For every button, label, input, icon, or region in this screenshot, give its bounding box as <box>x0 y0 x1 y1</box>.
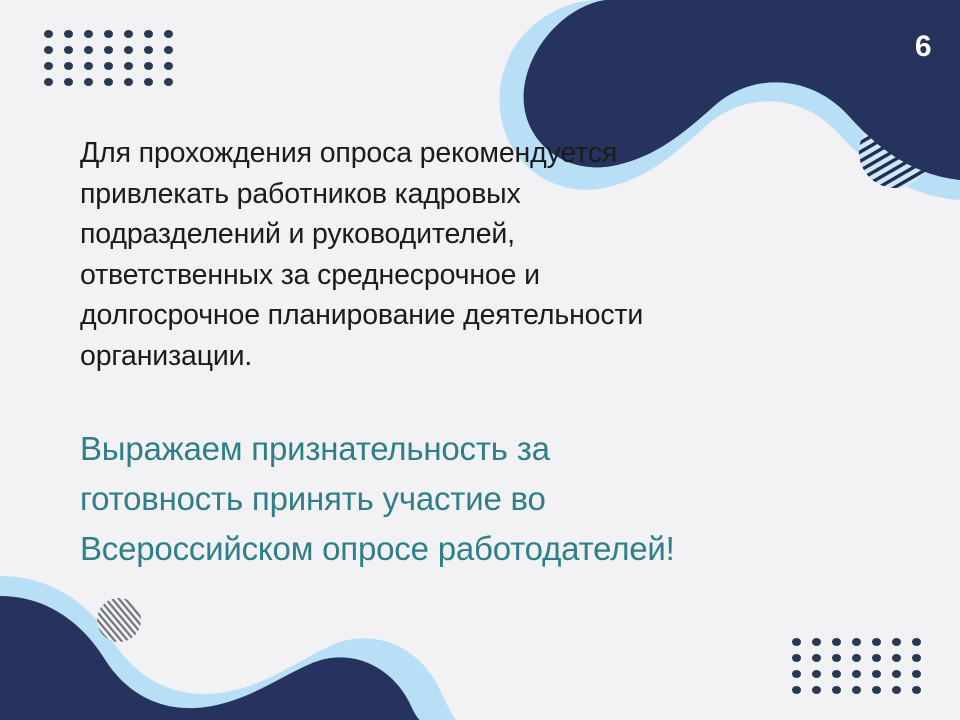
dot <box>164 78 173 86</box>
accent-paragraph: Выражаем признательность за готовность п… <box>80 424 920 574</box>
dot <box>812 670 821 678</box>
body-line: организации. <box>80 336 820 377</box>
dot <box>64 46 73 54</box>
dot <box>104 78 113 86</box>
accent-line: Выражаем признательность за <box>80 424 920 474</box>
dot <box>164 46 173 54</box>
dot <box>104 30 113 38</box>
dot <box>104 62 113 70</box>
dot <box>124 46 133 54</box>
dot <box>792 638 801 646</box>
dot <box>64 30 73 38</box>
dot <box>892 686 901 694</box>
dot <box>832 654 841 662</box>
dot <box>792 686 801 694</box>
dot <box>164 62 173 70</box>
body-line: подразделений и руководителей, <box>80 214 820 255</box>
dot <box>872 686 881 694</box>
dot <box>832 638 841 646</box>
dot <box>852 638 861 646</box>
dot <box>164 30 173 38</box>
dot <box>892 670 901 678</box>
dot <box>812 686 821 694</box>
slide-canvas: 6 Для прохождения опроса рекомендуется п… <box>0 0 960 720</box>
dot <box>812 638 821 646</box>
dot <box>144 62 153 70</box>
dot <box>84 30 93 38</box>
dot <box>44 62 53 70</box>
dot <box>84 46 93 54</box>
body-line: ответственных за среднесрочное и <box>80 255 820 296</box>
dot <box>852 654 861 662</box>
dot-grid-bottom-right <box>792 638 932 702</box>
dot <box>872 638 881 646</box>
dot <box>892 654 901 662</box>
dot <box>832 670 841 678</box>
dot <box>852 670 861 678</box>
body-line: привлекать работников кадровых <box>80 174 820 215</box>
body-paragraph: Для прохождения опроса рекомендуется при… <box>80 133 820 376</box>
body-line: Для прохождения опроса рекомендуется <box>80 133 820 174</box>
dot <box>872 670 881 678</box>
page-number: 6 <box>915 32 932 62</box>
dot <box>64 62 73 70</box>
accent-line: Всероссийском опросе работодателей! <box>80 524 920 574</box>
dot <box>812 654 821 662</box>
accent-line: готовность принять участие во <box>80 474 920 524</box>
dot <box>64 78 73 86</box>
dot <box>144 46 153 54</box>
dot <box>104 46 113 54</box>
dot <box>912 638 921 646</box>
dot <box>792 654 801 662</box>
dot <box>912 686 921 694</box>
dot <box>44 30 53 38</box>
dot <box>832 686 841 694</box>
dot <box>792 670 801 678</box>
dot <box>144 30 153 38</box>
dot <box>144 78 153 86</box>
dot <box>912 670 921 678</box>
body-line: долгосрочное планирование деятельности <box>80 295 820 336</box>
dot <box>892 638 901 646</box>
dot <box>84 62 93 70</box>
blob-bottom-left <box>0 596 420 720</box>
dot <box>852 686 861 694</box>
striped-circle-bottom-left <box>97 598 141 642</box>
dot <box>912 654 921 662</box>
blob-bottom-left-outline <box>0 576 456 720</box>
dot <box>124 62 133 70</box>
dot <box>84 78 93 86</box>
dot <box>124 78 133 86</box>
dot <box>872 654 881 662</box>
dot-grid-top-left <box>44 30 184 94</box>
dot <box>44 78 53 86</box>
dot <box>124 30 133 38</box>
dot <box>44 46 53 54</box>
